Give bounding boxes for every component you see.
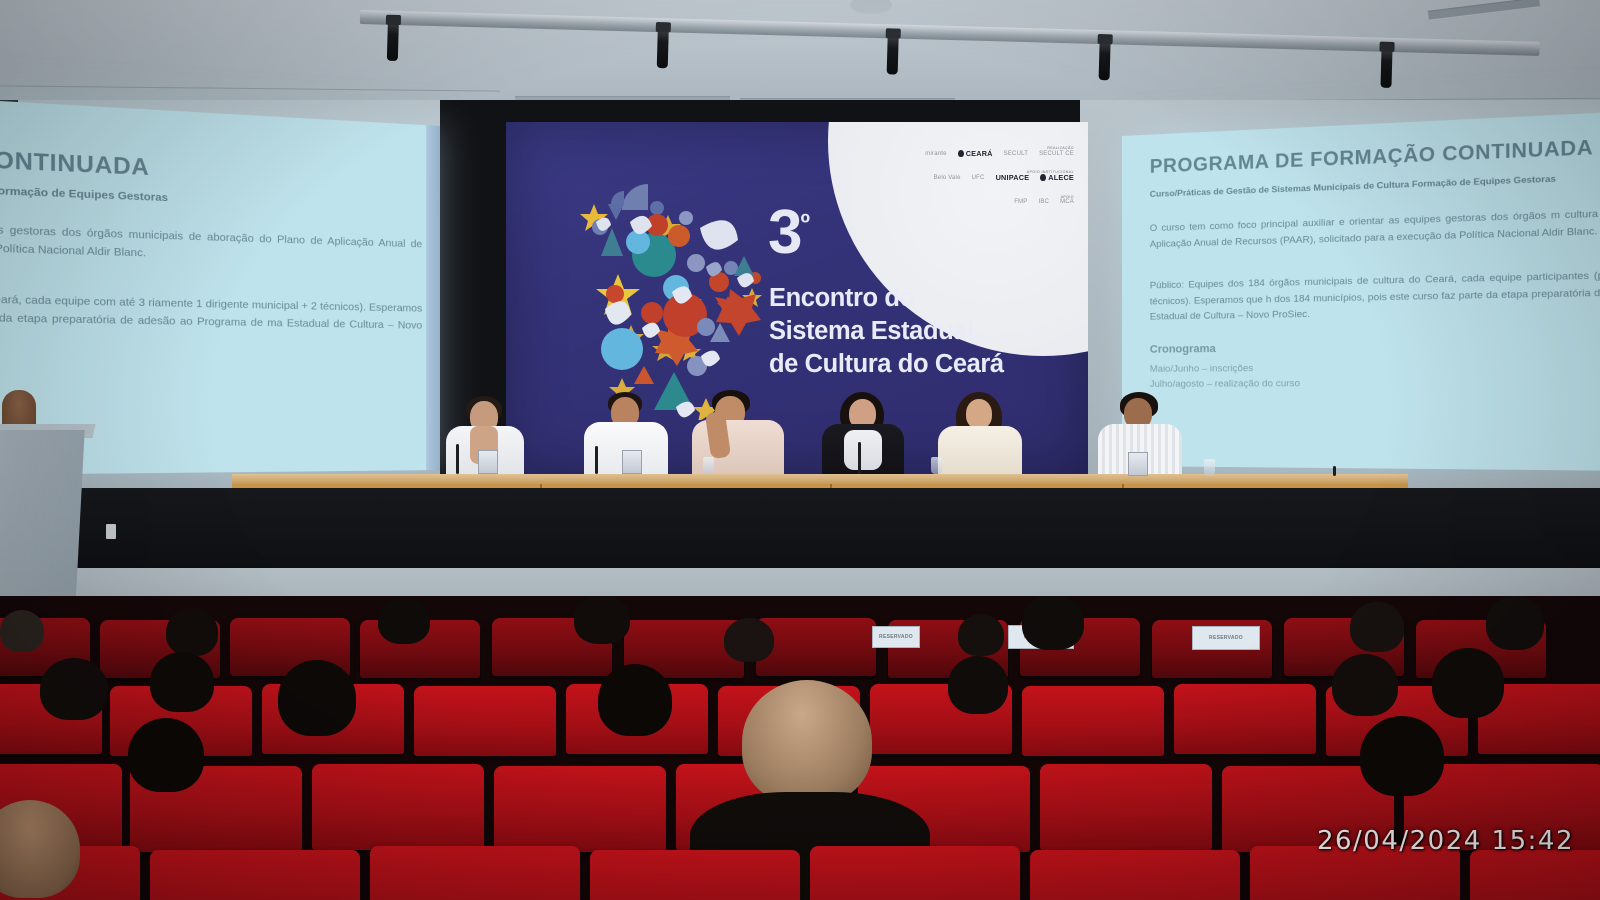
ceara-map-icon bbox=[556, 170, 786, 420]
logo-secult: SECULT bbox=[1004, 151, 1028, 157]
audience-head-bald bbox=[742, 680, 872, 804]
banner-line-3: de Cultura do Ceará bbox=[769, 348, 1069, 381]
logo-unipace: UNIPACE bbox=[996, 174, 1030, 181]
panelist-5 bbox=[934, 392, 1026, 480]
logo-row-3: FMP IBC MCA bbox=[864, 199, 1074, 205]
microphone-icon bbox=[456, 444, 459, 474]
microphone-icon bbox=[858, 442, 861, 474]
slide-right-paragraph-2: Público: Equipes dos 184 órgãos municipa… bbox=[1150, 263, 1600, 325]
audience-head bbox=[166, 608, 218, 656]
inner-top bbox=[844, 430, 882, 470]
banner-ordinal: 3º bbox=[768, 202, 808, 264]
seat[interactable] bbox=[1470, 850, 1600, 900]
audience-head bbox=[1486, 596, 1544, 650]
stage-spotlight-icon bbox=[1380, 50, 1392, 88]
shield-icon bbox=[1040, 174, 1046, 181]
logo-fmp: FMP bbox=[1014, 199, 1027, 205]
logo-ceara: CEARÁ bbox=[958, 150, 993, 157]
banner-title-block: Encontro do Sistema Estadual de Cultura … bbox=[769, 282, 1069, 381]
seat[interactable] bbox=[756, 618, 876, 676]
audience-head bbox=[1332, 654, 1398, 716]
audience-head bbox=[1432, 648, 1504, 718]
logo-ufc: UFC bbox=[972, 175, 985, 181]
audience-head bbox=[40, 658, 108, 720]
microphone-icon bbox=[1333, 466, 1336, 476]
camera-timestamp: 26/04/2024 15:42 bbox=[1317, 826, 1574, 856]
banner-line-1: Encontro do bbox=[769, 282, 1069, 315]
audience-head bbox=[724, 618, 774, 662]
reserved-sign: RESERVADO bbox=[872, 626, 920, 648]
slide-left-paragraph-1: principal auxiliar e orientar as equipes… bbox=[0, 214, 422, 271]
seat[interactable] bbox=[1174, 684, 1316, 754]
audience-head bbox=[598, 664, 672, 736]
seat[interactable] bbox=[810, 846, 1020, 900]
logo-alece: ALECE bbox=[1040, 174, 1074, 181]
logo-row-1: mirante CEARÁ SECULT SECULT CE bbox=[864, 150, 1074, 157]
head-table-surface bbox=[232, 474, 1408, 484]
microphone-icon bbox=[595, 446, 598, 474]
projection-screen-left: E FORMAÇÃO CONTINUADA de Sistemas Munici… bbox=[0, 87, 440, 478]
audience-head bbox=[150, 652, 214, 712]
podium bbox=[0, 430, 85, 610]
head bbox=[966, 399, 992, 429]
stage-spotlight-icon bbox=[887, 36, 899, 74]
audience-head bbox=[958, 614, 1004, 656]
stage-spotlight-icon bbox=[657, 30, 669, 68]
logo-mirante: mirante bbox=[925, 151, 946, 157]
seat[interactable] bbox=[312, 764, 484, 850]
seat[interactable] bbox=[414, 686, 556, 756]
panelist-4 bbox=[818, 392, 908, 480]
ceiling-seam bbox=[0, 85, 500, 91]
ceiling-vent bbox=[1428, 0, 1540, 21]
audience-head bbox=[1360, 716, 1444, 796]
screen-left-edge-band bbox=[426, 125, 440, 470]
banner-line-2: Sistema Estadual bbox=[769, 315, 1069, 348]
slide-left-paragraph-2: 184 órgãos municipais de cultura do Cear… bbox=[0, 286, 422, 352]
sponsor-logo-grid: REALIZAÇÃO mirante CEARÁ SECULT SECULT C… bbox=[864, 146, 1074, 205]
seat[interactable] bbox=[370, 846, 580, 900]
seat[interactable] bbox=[1030, 850, 1240, 900]
audience-head bbox=[1022, 596, 1084, 650]
shield-icon bbox=[958, 150, 964, 157]
stage-skirt bbox=[0, 488, 1600, 578]
stage-spotlight-icon bbox=[1099, 42, 1111, 80]
ceiling-dome-fixture bbox=[850, 0, 892, 14]
seat[interactable] bbox=[150, 850, 360, 900]
audience-head bbox=[278, 660, 356, 736]
logo-secult-ce: SECULT CE bbox=[1039, 151, 1074, 157]
stage-spotlight-icon bbox=[387, 23, 399, 61]
audience-head bbox=[948, 656, 1008, 714]
water-glass bbox=[1204, 459, 1215, 476]
auditorium-photo-scene: E FORMAÇÃO CONTINUADA de Sistemas Munici… bbox=[0, 0, 1600, 900]
seat[interactable] bbox=[494, 766, 666, 852]
audience-head bbox=[1350, 602, 1404, 652]
reserved-sign: RESERVADO bbox=[1192, 626, 1260, 650]
seat[interactable] bbox=[590, 850, 800, 900]
seat[interactable] bbox=[1022, 686, 1164, 756]
slide-right-schedule-heading: Cronograma bbox=[1150, 336, 1600, 356]
lighting-track bbox=[360, 10, 1540, 56]
name-card bbox=[622, 450, 642, 474]
logo-belo-vale: Belo Vale bbox=[934, 175, 961, 181]
torso bbox=[938, 426, 1022, 480]
projection-screen-right: PROGRAMA DE FORMAÇÃO CONTINUADA Curso/Pr… bbox=[1122, 104, 1600, 472]
logo-ibc: IBC bbox=[1038, 199, 1049, 205]
seat[interactable] bbox=[1040, 764, 1212, 850]
logo-mca: MCA bbox=[1060, 199, 1074, 205]
name-card bbox=[478, 450, 498, 474]
slide-right-title: PROGRAMA DE FORMAÇÃO CONTINUADA bbox=[1150, 129, 1600, 179]
audience-head bbox=[0, 610, 44, 652]
water-glass bbox=[703, 457, 714, 474]
water-glass bbox=[931, 457, 942, 474]
audience-head bbox=[378, 598, 430, 644]
logo-row-2: Belo Vale UFC UNIPACE ALECE bbox=[864, 174, 1074, 181]
name-card bbox=[1128, 452, 1148, 476]
audience-head bbox=[128, 718, 204, 792]
audience-head bbox=[574, 596, 630, 644]
slide-right-paragraph-1: O curso tem como foco principal auxiliar… bbox=[1150, 199, 1600, 252]
slide-left-title: E FORMAÇÃO CONTINUADA bbox=[0, 136, 422, 193]
wall-outlet-icon bbox=[106, 524, 116, 539]
slide-right-schedule-line-2: Julho/agosto – realização do curso bbox=[1150, 373, 1600, 392]
